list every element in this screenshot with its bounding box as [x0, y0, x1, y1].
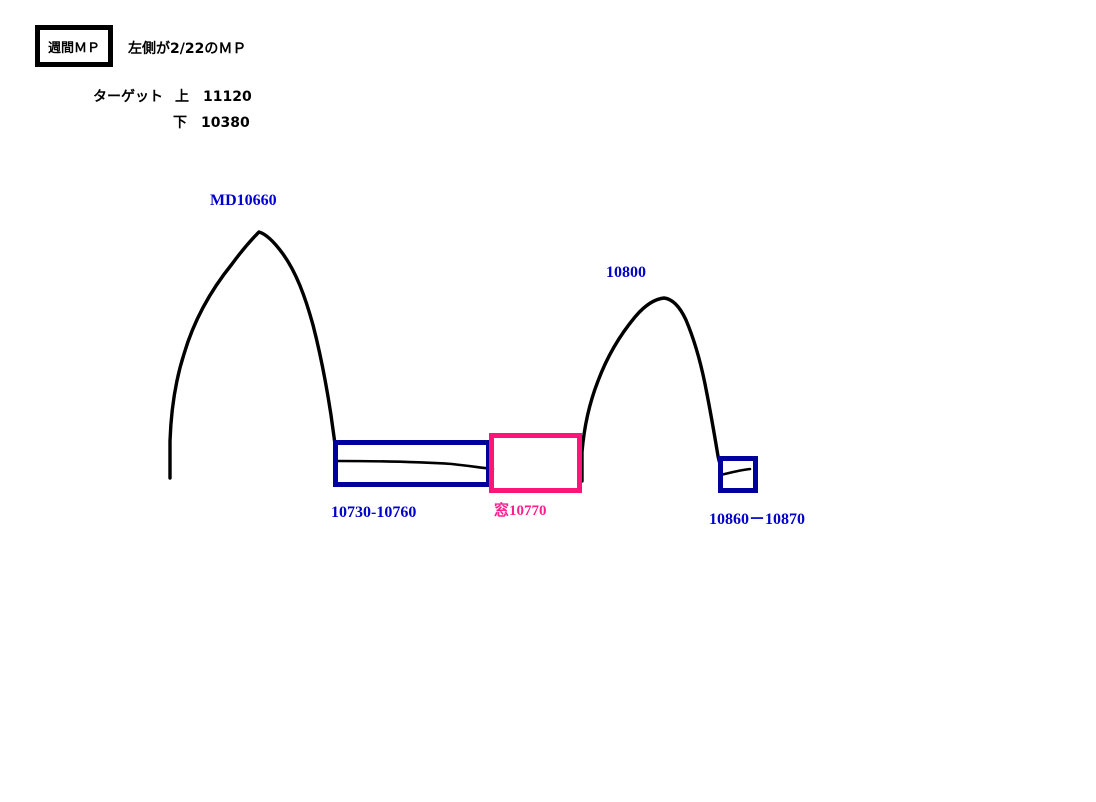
zone-label-10730-10760: 10730-10760 [331, 504, 416, 522]
weekly-mp-title-label: 週間ＭＰ [48, 37, 100, 56]
mp-profile-sketch [0, 0, 1096, 802]
zone-label-10860-10870: 10860－10870 [709, 505, 805, 529]
peak-label-left: MD10660 [210, 192, 277, 210]
target-row-lower: 下10380 [173, 112, 250, 132]
zone-box-10730-10760 [333, 440, 491, 487]
zone-label-mado-10770: 窓10770 [494, 499, 547, 520]
weekly-mp-title-box: 週間ＭＰ [35, 25, 113, 67]
peak-label-right: 10800 [606, 264, 646, 282]
right-profile-curve [582, 298, 721, 481]
target-label: ターゲット [93, 89, 163, 105]
target-row-upper: ターゲット上11120 [93, 86, 252, 106]
zone-box-10860-10870 [718, 456, 758, 493]
target-value-upper: 11120 [203, 89, 252, 105]
left-profile-curve [170, 232, 336, 478]
subtitle-text: 左側が2/22のＭＰ [128, 38, 246, 58]
zone-box-mado-10770 [489, 433, 582, 493]
target-direction-upper: 上 [175, 89, 189, 105]
target-value-lower: 10380 [201, 115, 250, 131]
target-direction-lower: 下 [173, 115, 187, 131]
